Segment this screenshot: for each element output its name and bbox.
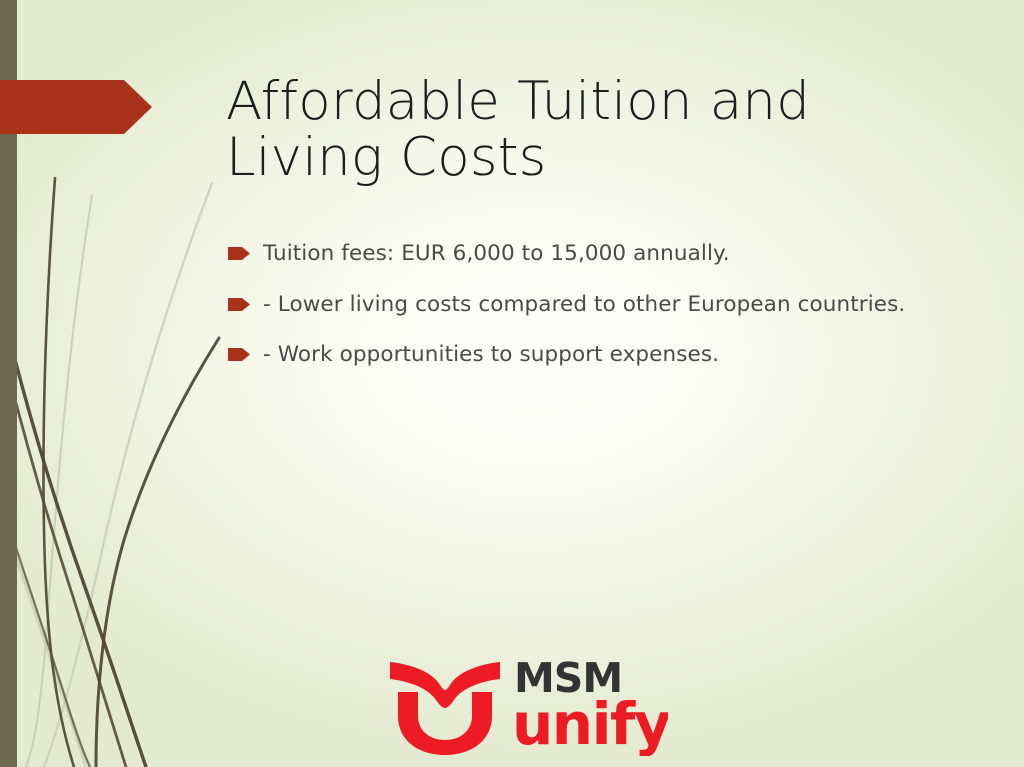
presentation-slide: Affordable Tuition and Living Costs Tuit…	[0, 0, 1024, 767]
logo-u-mark	[390, 662, 500, 755]
grass-blade-faint-2	[44, 183, 212, 767]
grass-blade-dark-4	[96, 338, 219, 767]
grass-blade-dark-2	[0, 300, 146, 767]
pennant-bullet-icon	[228, 298, 250, 311]
pennant-bullet-icon	[228, 348, 250, 361]
list-item: Tuition fees: EUR 6,000 to 15,000 annual…	[228, 240, 918, 269]
grass-blade-dark-3	[0, 340, 126, 767]
logo-text-unify: unify	[512, 690, 668, 756]
list-item: - Work opportunities to support expenses…	[228, 341, 918, 370]
arrow-shape	[0, 80, 152, 134]
red-arrow-banner	[0, 80, 152, 134]
pennant-bullet-icon	[228, 247, 250, 260]
slide-title: Affordable Tuition and Living Costs	[226, 74, 966, 186]
grass-blade-dark-1	[43, 178, 74, 767]
list-item: - Lower living costs compared to other E…	[228, 291, 918, 320]
list-item-label: Tuition fees: EUR 6,000 to 15,000 annual…	[263, 240, 918, 269]
bullet-list: Tuition fees: EUR 6,000 to 15,000 annual…	[228, 240, 918, 392]
list-item-label: - Work opportunities to support expenses…	[263, 341, 918, 370]
grass-blade-faint-1	[26, 196, 92, 767]
msm-unify-logo: MSM unify	[388, 648, 668, 756]
list-item-label: - Lower living costs compared to other E…	[263, 291, 918, 320]
